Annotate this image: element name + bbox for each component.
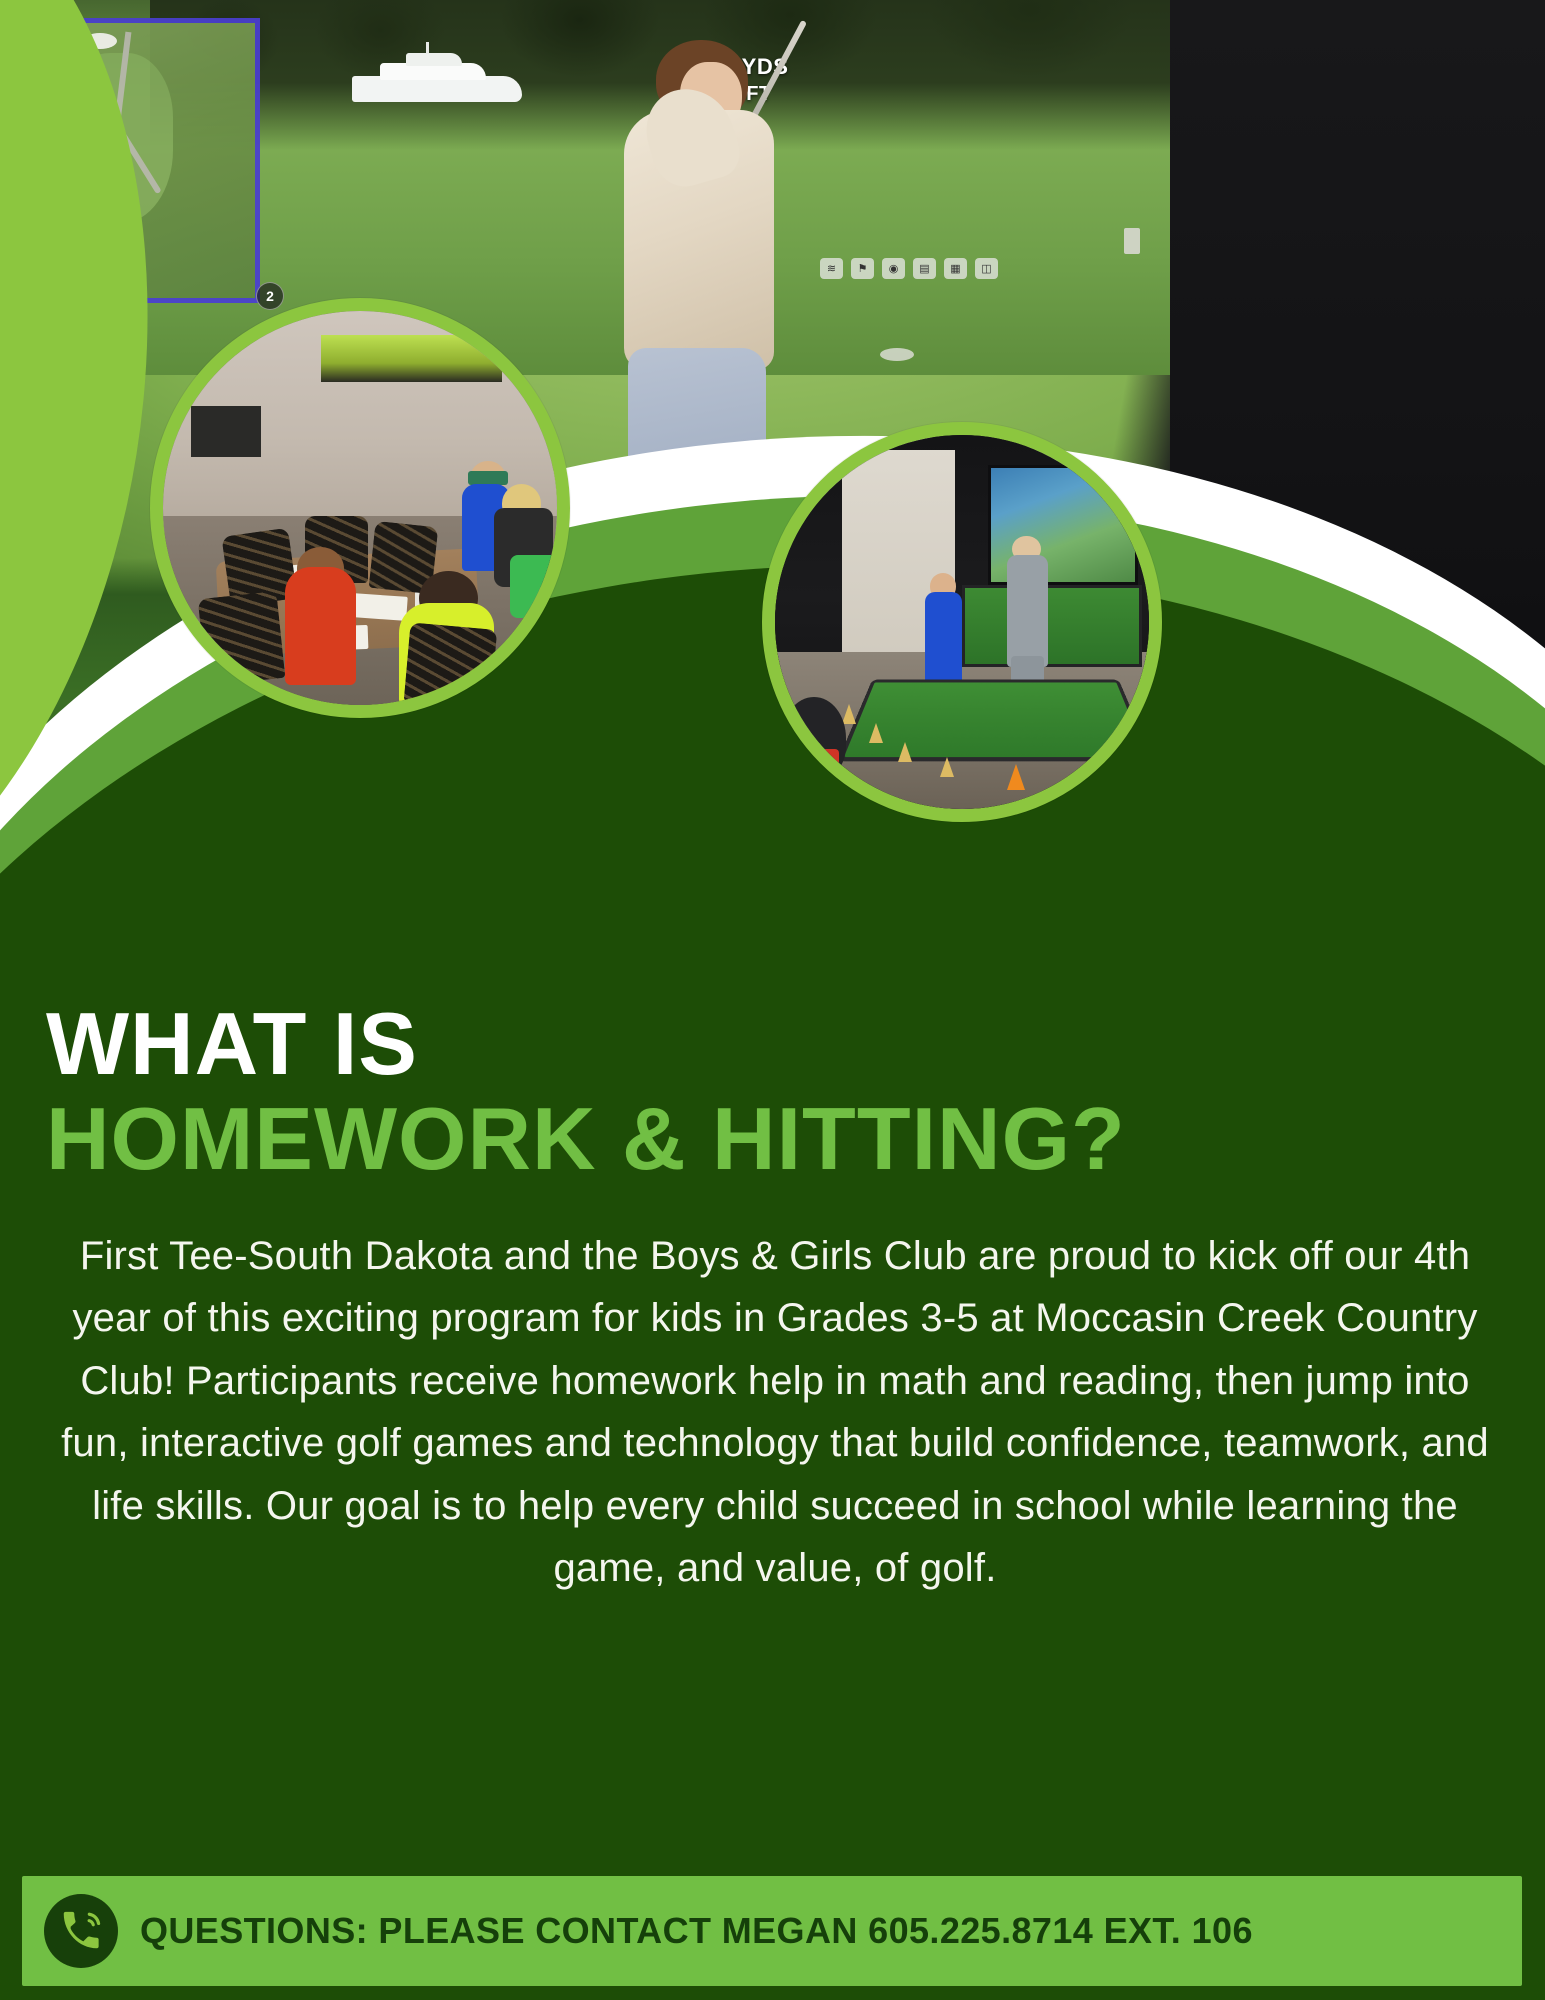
vr-headset bbox=[468, 471, 507, 485]
training-cone bbox=[898, 742, 912, 762]
wind-icon[interactable]: ≋ bbox=[820, 258, 843, 279]
contact-bar[interactable]: QUESTIONS: PLEASE CONTACT MEGAN 605.225.… bbox=[22, 1876, 1522, 1986]
training-cone-orange bbox=[1007, 764, 1025, 790]
photo-hitting-bay bbox=[762, 422, 1162, 822]
grid-icon[interactable]: ▦ bbox=[944, 258, 967, 279]
eye-icon[interactable]: ◉ bbox=[882, 258, 905, 279]
flag-icon[interactable]: ⚑ bbox=[851, 258, 874, 279]
headline-line-1: WHAT IS bbox=[46, 1000, 1506, 1088]
phone-ringing-icon bbox=[44, 1894, 118, 1968]
contact-info-text: QUESTIONS: PLEASE CONTACT MEGAN 605.225.… bbox=[140, 1910, 1253, 1952]
worksheet-paper bbox=[351, 593, 408, 620]
ceiling-light bbox=[880, 348, 914, 361]
office-chair bbox=[404, 623, 497, 709]
program-description: First Tee-South Dakota and the Boys & Gi… bbox=[60, 1225, 1490, 1599]
homework-photo-inner bbox=[163, 311, 557, 705]
simulator-toolbar[interactable]: ≋ ⚑ ◉ ▤ ▦ ◫ bbox=[820, 258, 998, 279]
hitting-bay-inner bbox=[775, 435, 1149, 809]
hitting-mat-front bbox=[838, 680, 1154, 762]
yacht-graphic bbox=[352, 48, 522, 108]
office-chair bbox=[198, 591, 285, 685]
yacht-mast bbox=[426, 42, 429, 54]
teen-grey-hoodie bbox=[1007, 555, 1048, 667]
settings-icon[interactable]: ◫ bbox=[975, 258, 998, 279]
page-title: WHAT IS HOMEWORK & HITTING? bbox=[46, 1000, 1506, 1185]
wall-switch-plate bbox=[1124, 228, 1140, 254]
training-cone bbox=[869, 723, 883, 743]
hole-number-marker: 2 bbox=[256, 282, 284, 310]
training-cone bbox=[842, 704, 856, 724]
yacht-bridge bbox=[406, 53, 462, 66]
hitting-mat-back bbox=[962, 585, 1142, 667]
flyer-root: 54 YDS 10FT 2 ≋ ⚑ ◉ ▤ ▦ ◫ bbox=[0, 0, 1545, 2000]
volunteer-green-pants bbox=[510, 555, 565, 618]
wall-vent bbox=[321, 335, 502, 382]
student-in-red-shirt bbox=[285, 567, 356, 685]
layers-icon[interactable]: ▤ bbox=[913, 258, 936, 279]
child-blue-hoodie bbox=[925, 592, 962, 693]
red-gear-item bbox=[797, 749, 838, 779]
headline-line-2: HOMEWORK & HITTING? bbox=[46, 1092, 1506, 1185]
wall-panel bbox=[191, 406, 262, 457]
training-cone bbox=[940, 757, 954, 777]
photo-homework-session bbox=[150, 298, 570, 718]
